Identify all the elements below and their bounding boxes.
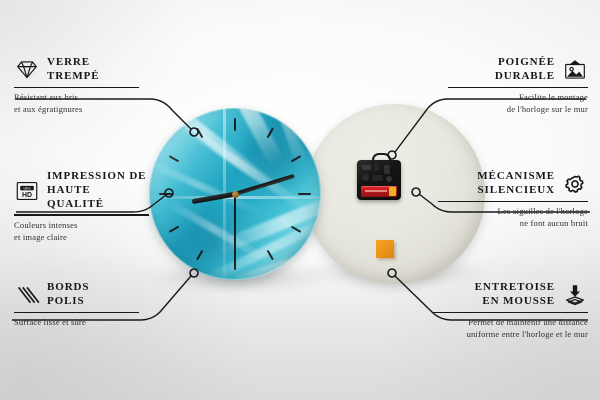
battery-terminal <box>389 187 396 196</box>
mechanism-detail <box>372 175 383 181</box>
polished-edges-icon <box>14 284 40 306</box>
callout-rule <box>433 312 588 314</box>
callout-rule <box>448 87 588 89</box>
callout-header: ENTRETOISE EN MOUSSE <box>433 281 588 309</box>
callout-rule <box>14 214 149 216</box>
foam-spacer-icon <box>562 284 588 306</box>
callout-rule <box>438 201 588 203</box>
callout-mecanisme-silencieux: MÉCANISME SILENCIEUX Les aiguilles de l'… <box>438 170 588 230</box>
battery-stripe <box>365 190 387 192</box>
clock-mechanism <box>357 160 401 200</box>
picture-hanger-icon <box>562 59 588 81</box>
hanger-loop-icon <box>372 153 391 164</box>
battery <box>361 186 397 197</box>
callout-header: ultra HD IMPRESSION DE HAUTE QUALITÉ <box>14 170 149 211</box>
mechanism-detail <box>362 165 371 170</box>
callout-title: VERRE TREMPÉ <box>47 56 99 84</box>
callout-header: MÉCANISME SILENCIEUX <box>438 170 588 198</box>
callout-impression-haute-qualite: ultra HD IMPRESSION DE HAUTE QUALITÉ Cou… <box>14 170 149 243</box>
callout-title: IMPRESSION DE HAUTE QUALITÉ <box>47 170 149 211</box>
callout-subtitle: Les aiguilles de l'horloge ne font aucun… <box>438 205 588 230</box>
mechanism-detail <box>362 174 369 181</box>
ultra-hd-badge-icon: ultra HD <box>14 180 40 202</box>
callout-subtitle: Surface lisse et sûre <box>14 316 139 328</box>
callout-bords-polis: BORDS POLIS Surface lisse et sûre <box>14 281 139 328</box>
callout-poignee-durable: POIGNÉE DURABLE Facilite le montage de l… <box>448 56 588 116</box>
callout-title: POIGNÉE DURABLE <box>495 56 555 84</box>
diamond-icon <box>14 59 40 81</box>
callout-entretoise-en-mousse: ENTRETOISE EN MOUSSE Permet de maintenir… <box>433 281 588 341</box>
foam-spacer <box>376 240 394 258</box>
callout-header: BORDS POLIS <box>14 281 139 309</box>
callout-header: POIGNÉE DURABLE <box>448 56 588 84</box>
callout-header: VERRE TREMPÉ <box>14 56 139 84</box>
mechanism-detail <box>374 164 379 171</box>
product-infographic: VERRE TREMPÉ Résistant aux bris et aux é… <box>0 0 600 400</box>
svg-text:HD: HD <box>22 192 32 199</box>
mechanism-detail <box>386 176 392 182</box>
callout-verre-trempe: VERRE TREMPÉ Résistant aux bris et aux é… <box>14 56 139 116</box>
clock-front <box>149 108 321 280</box>
callout-subtitle: Couleurs intenses et image claire <box>14 219 149 244</box>
callout-rule <box>14 312 139 314</box>
callout-title: BORDS POLIS <box>47 281 89 309</box>
callout-subtitle: Facilite le montage de l'horloge sur le … <box>448 91 588 116</box>
callout-title: ENTRETOISE EN MOUSSE <box>475 281 555 309</box>
mechanism-detail <box>384 165 390 174</box>
callout-subtitle: Résistant aux bris et aux égratignures <box>14 91 139 116</box>
clock-rim <box>149 108 321 280</box>
callout-title: MÉCANISME SILENCIEUX <box>477 170 555 198</box>
callout-subtitle: Permet de maintenir une distance uniform… <box>433 316 588 341</box>
callout-rule <box>14 87 139 89</box>
gear-icon <box>562 173 588 195</box>
svg-text:ultra: ultra <box>24 186 31 190</box>
